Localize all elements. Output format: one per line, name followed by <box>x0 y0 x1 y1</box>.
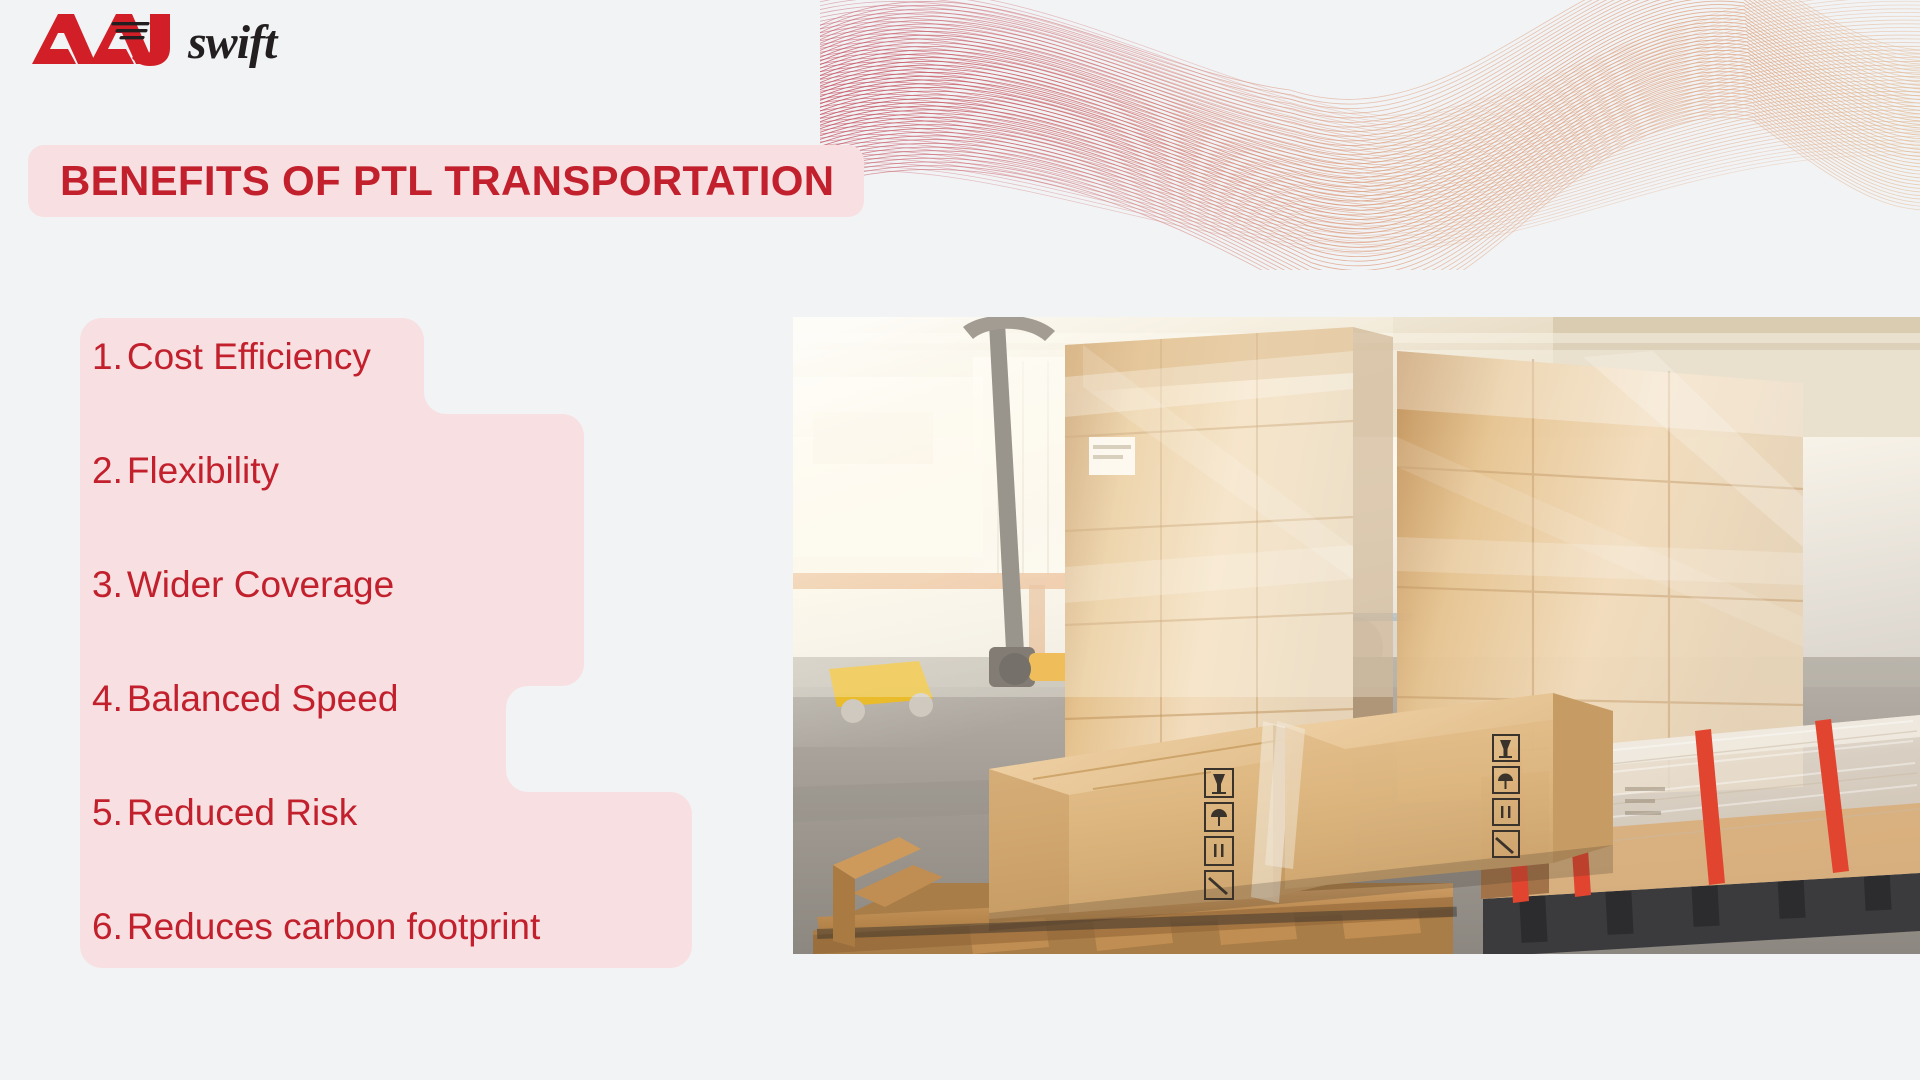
aaj-swift-logo[interactable]: swift <box>28 8 328 70</box>
svg-text:swift: swift <box>187 16 279 69</box>
benefit-item-4: 4. Balanced Speed <box>92 678 398 720</box>
benefit-label: Reduced Risk <box>127 792 357 834</box>
benefit-item-3: 3. Wider Coverage <box>92 564 394 606</box>
benefit-label: Reduces carbon footprint <box>127 906 540 948</box>
benefit-label: Balanced Speed <box>127 678 399 720</box>
page-title: BENEFITS OF PTL TRANSPORTATION <box>60 157 834 205</box>
benefit-item-5: 5. Reduced Risk <box>92 792 357 834</box>
benefit-label: Wider Coverage <box>127 564 394 606</box>
warehouse-pallets-photo <box>793 317 1920 954</box>
logo-icon: swift <box>28 8 328 70</box>
benefit-number: 1. <box>92 336 123 378</box>
benefit-number: 4. <box>92 678 123 720</box>
benefit-label: Flexibility <box>127 450 279 492</box>
benefits-panel: 1. Cost Efficiency 2. Flexibility 3. Wid… <box>80 318 740 968</box>
benefit-number: 6. <box>92 906 123 948</box>
benefits-list: 1. Cost Efficiency 2. Flexibility 3. Wid… <box>80 318 740 968</box>
benefit-label: Cost Efficiency <box>127 336 371 378</box>
benefit-number: 5. <box>92 792 123 834</box>
benefit-number: 3. <box>92 564 123 606</box>
benefit-item-2: 2. Flexibility <box>92 450 279 492</box>
flowing-line-wave-pattern <box>820 0 1920 270</box>
benefit-item-1: 1. Cost Efficiency <box>92 336 371 378</box>
benefit-item-6: 6. Reduces carbon footprint <box>92 906 540 948</box>
benefit-number: 2. <box>92 450 123 492</box>
page-title-banner: BENEFITS OF PTL TRANSPORTATION <box>28 145 864 217</box>
